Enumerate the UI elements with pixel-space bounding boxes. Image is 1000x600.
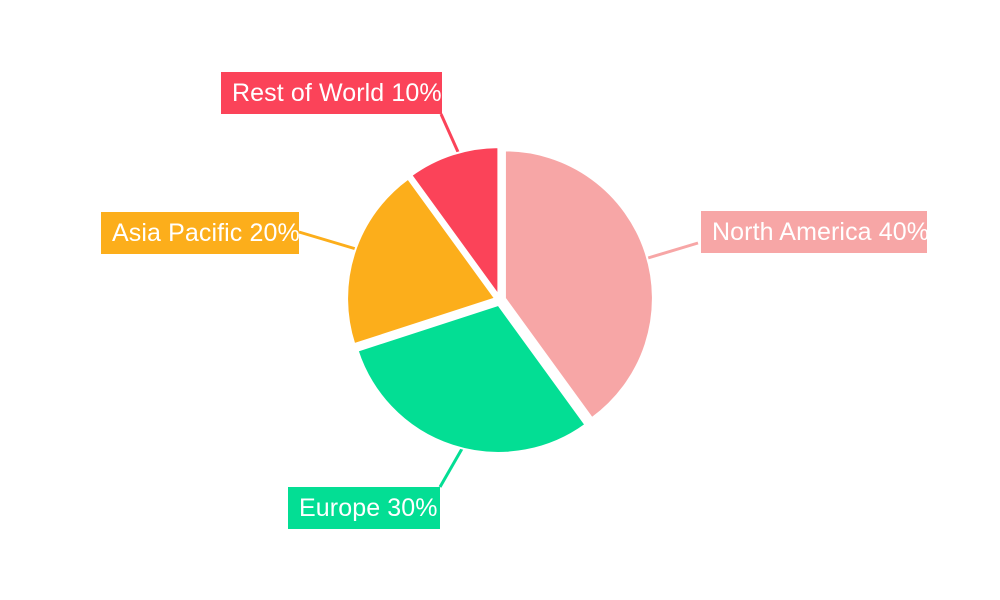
pie-chart-canvas: [0, 0, 1000, 600]
pie-slices-group: [347, 147, 653, 453]
slice-label-rest-of-world[interactable]: Rest of World 10%: [221, 72, 442, 114]
leader-line-europe: [440, 447, 463, 487]
leader-line-asia-pacific: [299, 232, 356, 249]
slice-label-north-america[interactable]: North America 40%: [701, 211, 927, 253]
slice-label-europe[interactable]: Europe 30%: [288, 487, 440, 529]
leader-line-north-america: [648, 243, 698, 258]
pie-chart-figure: North America 40%Europe 30%Asia Pacific …: [0, 0, 1000, 600]
slice-label-asia-pacific[interactable]: Asia Pacific 20%: [101, 212, 299, 254]
